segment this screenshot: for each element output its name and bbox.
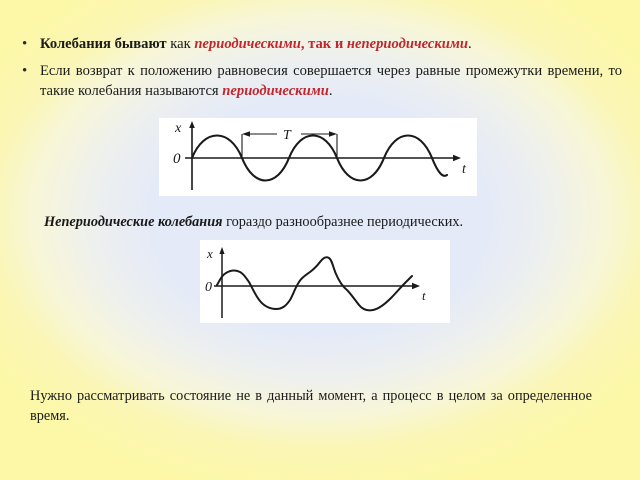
period-arrowhead-right bbox=[329, 131, 337, 137]
bullet-item-text: Колебания бывают как периодическими, так… bbox=[40, 34, 622, 55]
bullet-segment: периодическими bbox=[222, 83, 329, 99]
paragraph-bottom-text: Нужно рассматривать состояние не в данны… bbox=[30, 388, 592, 424]
figure-periodic-oscillation: x 0 t T bbox=[159, 118, 477, 196]
list-item: • Если возврат к положению равновесия со… bbox=[18, 61, 622, 102]
y-axis-arrow bbox=[219, 247, 224, 254]
bullet-segment: . bbox=[329, 83, 333, 99]
paragraph-bottom: Нужно рассматривать состояние не в данны… bbox=[30, 386, 592, 426]
caption-nonperiodic: Непериодические колебания гораздо разноо… bbox=[44, 213, 604, 232]
origin-label: 0 bbox=[205, 280, 212, 295]
bullet-item-text: Если возврат к положению равновесия сове… bbox=[40, 61, 622, 102]
x-axis-label: t bbox=[462, 162, 467, 177]
bullet-segment: непериодическими bbox=[347, 36, 468, 52]
bullet-marker: • bbox=[18, 34, 40, 54]
y-axis-label: x bbox=[206, 246, 213, 261]
bullet-segment: Колебания бывают bbox=[40, 36, 167, 52]
caption-segment: гораздо разнообразнее периодических. bbox=[223, 214, 464, 230]
nonperiodic-curve bbox=[217, 257, 412, 310]
bullet-segment: , так и bbox=[301, 36, 347, 52]
x-axis-label: t bbox=[422, 288, 426, 303]
x-axis-arrow bbox=[453, 155, 461, 161]
bullet-segment: . bbox=[468, 36, 472, 52]
nonperiodic-wave-graph: x 0 t bbox=[200, 240, 450, 323]
period-arrowhead-left bbox=[242, 131, 250, 137]
bullet-segment: периодическими bbox=[194, 36, 301, 52]
slide-canvas: • Колебания бывают как периодическими, т… bbox=[0, 0, 640, 480]
caption-segment: Непериодические колебания bbox=[44, 214, 223, 230]
x-axis-arrow bbox=[412, 283, 420, 289]
bullet-segment: как bbox=[167, 36, 195, 52]
list-item: • Колебания бывают как периодическими, т… bbox=[18, 34, 622, 55]
bullet-marker: • bbox=[18, 61, 40, 81]
period-label: T bbox=[283, 128, 292, 143]
figure-nonperiodic-oscillation: x 0 t bbox=[200, 240, 450, 323]
y-axis-label: x bbox=[174, 121, 182, 136]
bullet-list: • Колебания бывают как периодическими, т… bbox=[18, 34, 622, 108]
periodic-wave-graph: x 0 t T bbox=[159, 118, 477, 196]
origin-label: 0 bbox=[173, 151, 181, 167]
y-axis-arrow bbox=[189, 121, 195, 128]
